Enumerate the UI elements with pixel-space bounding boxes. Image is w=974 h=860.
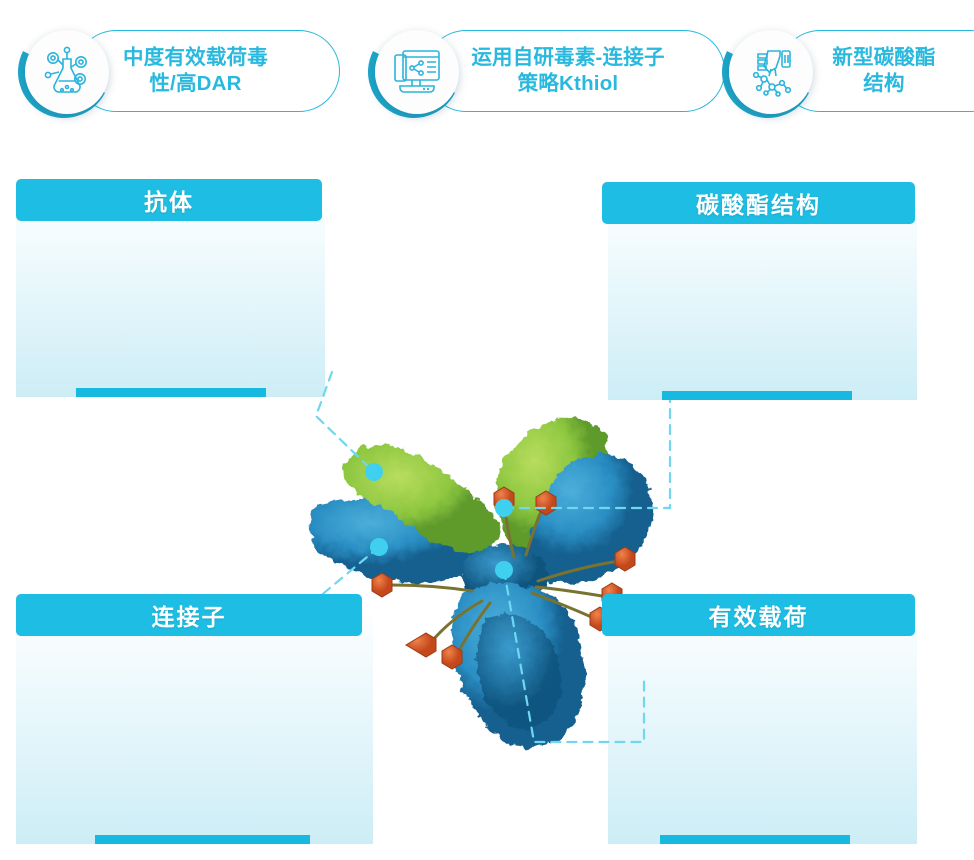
card-header-carbonate[interactable]: 碳酸酯结构: [602, 182, 915, 224]
card-accent-bar: [95, 835, 310, 844]
card-body: [608, 204, 917, 400]
card-header-antibody[interactable]: 抗体: [16, 179, 322, 221]
card-body: [608, 616, 917, 844]
card-header-linker[interactable]: 连接子: [16, 594, 362, 636]
card-body: [16, 201, 325, 397]
card-title: 抗体: [144, 183, 194, 217]
card-accent-bar: [660, 835, 850, 844]
card-title: 碳酸酯结构: [696, 186, 821, 220]
card-accent-bar: [76, 388, 266, 397]
card-accent-bar: [662, 391, 852, 400]
card-body: [16, 616, 373, 844]
card-title: 连接子: [152, 598, 227, 632]
card-header-payload[interactable]: 有效载荷: [602, 594, 915, 636]
card-title: 有效载荷: [709, 598, 809, 632]
